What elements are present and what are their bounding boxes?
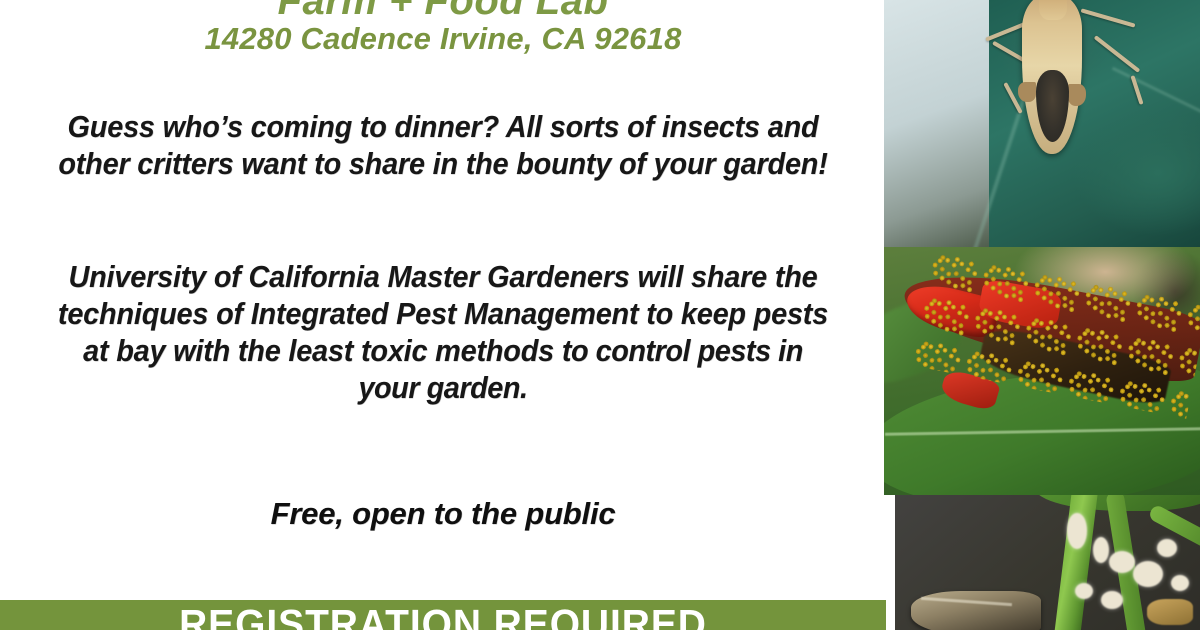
photo-aphids-on-red-bud — [884, 247, 1200, 495]
photo-assassin-bug-on-leaf — [884, 0, 1200, 247]
description-paragraph: University of California Master Gardener… — [57, 258, 829, 406]
tan-insect — [1147, 599, 1193, 625]
event-flyer: Farm + Food Lab 14280 Cadence Irvine, CA… — [0, 0, 1200, 630]
flyer-text-column: Farm + Food Lab 14280 Cadence Irvine, CA… — [0, 0, 886, 600]
photo-column — [884, 0, 1200, 630]
photo-background-sky — [884, 0, 996, 247]
mealybug — [1067, 513, 1087, 549]
venue-address: 14280 Cadence Irvine, CA 92618 — [0, 19, 886, 59]
mealybug — [1133, 561, 1163, 587]
mealybug — [1093, 537, 1109, 563]
photo-mealybugs-on-stems — [895, 495, 1200, 630]
registration-banner: REGISTRATION REQUIRED — [0, 600, 886, 630]
intro-paragraph: Guess who’s coming to dinner? All sorts … — [57, 108, 829, 182]
mealybug — [1157, 539, 1177, 557]
mealybug — [1109, 551, 1135, 573]
registration-banner-text: REGISTRATION REQUIRED — [22, 602, 864, 630]
insect-shoulder-left — [1018, 82, 1036, 102]
insect-head — [1039, 0, 1067, 20]
mealybug — [1101, 591, 1123, 609]
mealybug — [1075, 583, 1093, 599]
mealybug — [1171, 575, 1189, 591]
camouflaged-insect — [911, 591, 1041, 630]
insect-shoulder-right — [1068, 84, 1086, 106]
admission-note: Free, open to the public — [28, 495, 858, 533]
